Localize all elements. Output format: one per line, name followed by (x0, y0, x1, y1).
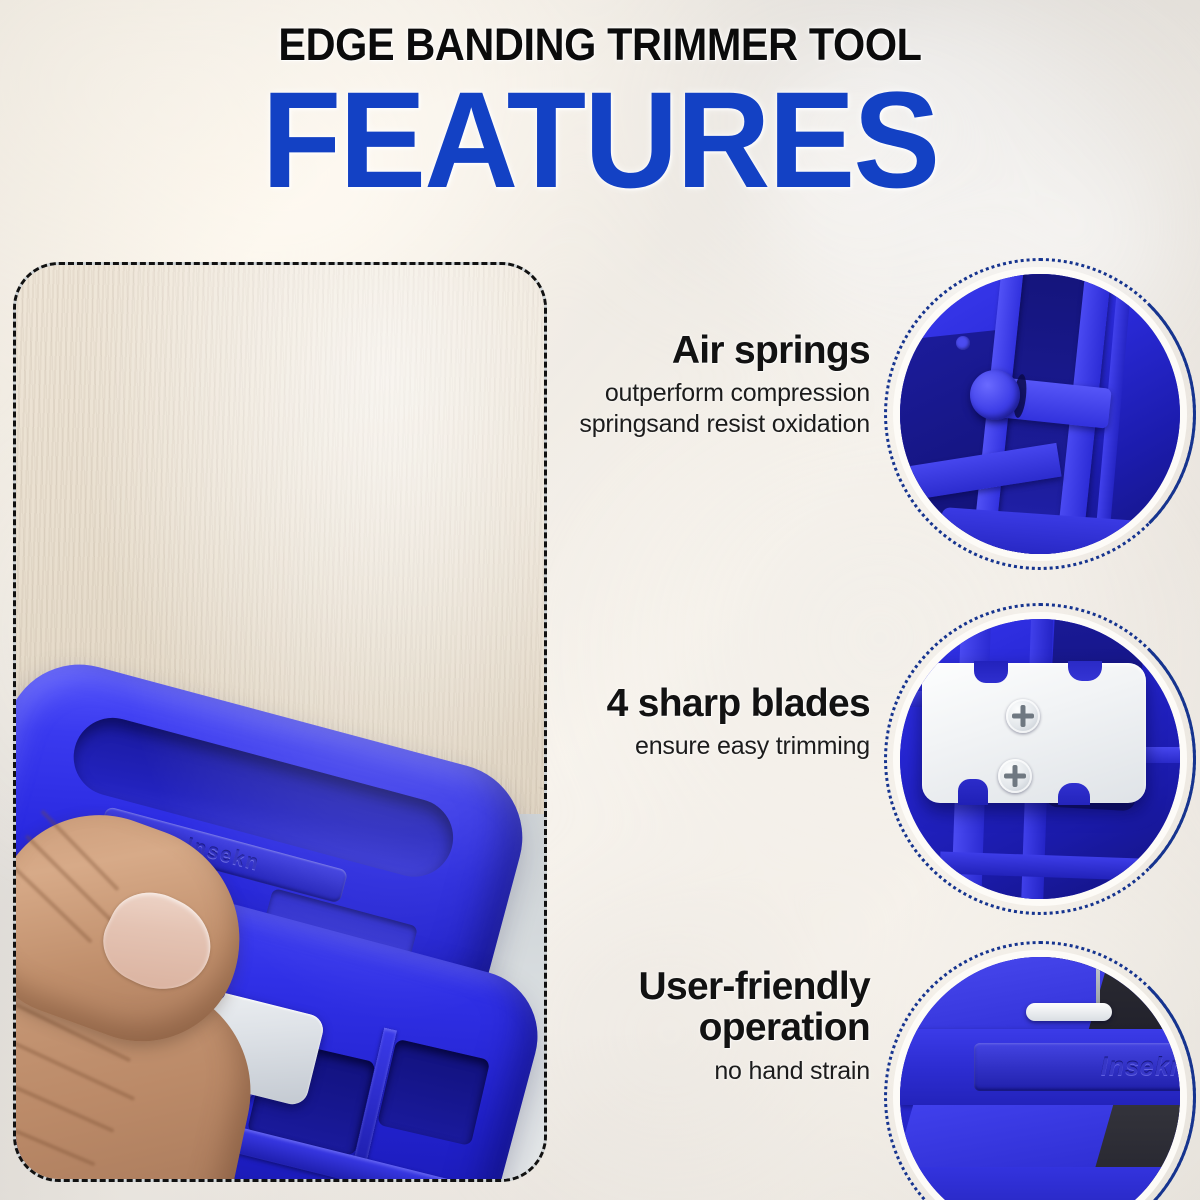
poster-header: EDGE BANDING TRIMMER TOOL FEATURES (0, 22, 1200, 209)
air-spring-cap (970, 370, 1020, 420)
blade-edge (1026, 1003, 1112, 1021)
brand-emboss-text: Insekn (974, 1043, 1180, 1091)
brand-emboss-plate: Insekn (974, 1043, 1180, 1091)
feature-block-user-friendly: User-friendly operation no hand strain (540, 966, 870, 1086)
eyebrow-title: EDGE BANDING TRIMMER TOOL (48, 22, 1152, 67)
hero-product-photo: Insekn (13, 262, 547, 1182)
hand-holding-tool (13, 822, 303, 1182)
feature-description: outperform compression springsand resist… (540, 378, 870, 440)
feature-description: ensure easy trimming (540, 731, 870, 762)
hero-photo-content: Insekn (13, 262, 547, 1182)
feature-block-sharp-blades: 4 sharp blades ensure easy trimming (540, 683, 870, 762)
feature-heading: Air springs (540, 330, 870, 371)
detail-photo-user-friendly: Insekn (884, 941, 1196, 1200)
detail-photo-air-springs (884, 258, 1196, 570)
circle-photo (900, 619, 1180, 899)
product-feature-poster: EDGE BANDING TRIMMER TOOL FEATURES Insek… (0, 0, 1200, 1200)
phillips-screw-icon (1006, 699, 1040, 733)
feature-heading: User-friendly operation (540, 966, 870, 1049)
circle-photo: Insekn (900, 957, 1180, 1200)
blade-plate-closeup (922, 663, 1146, 803)
circle-photo (900, 274, 1180, 554)
feature-heading: 4 sharp blades (540, 683, 870, 724)
feature-block-air-springs: Air springs outperform compression sprin… (540, 330, 870, 440)
phillips-screw-icon (998, 759, 1032, 793)
feature-description: no hand strain (540, 1056, 870, 1087)
page-title: FEATURES (30, 72, 1170, 209)
detail-photo-sharp-blades (884, 603, 1196, 915)
